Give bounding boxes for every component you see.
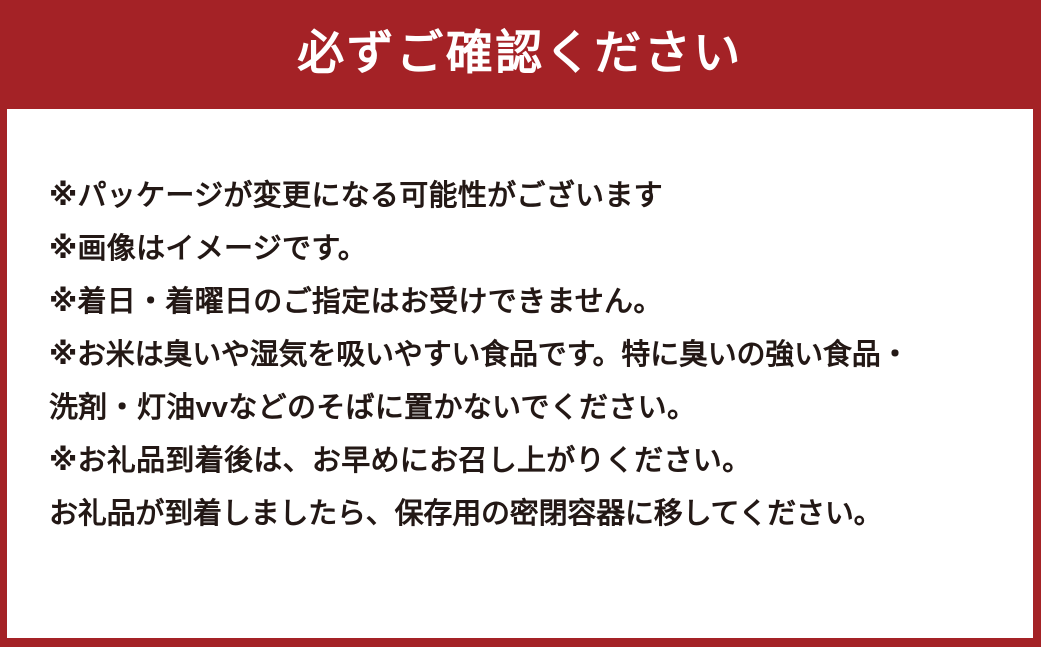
notice-line: ※お礼品到着後は、お早めにお召し上がりください。 (49, 435, 1033, 488)
notice-line: ※画像はイメージです。 (49, 223, 1033, 276)
notice-line: ※お米は臭いや湿気を吸いやすい食品です。特に臭いの強い食品・ (49, 329, 1033, 382)
notice-card: 必ずご確認ください ※パッケージが変更になる可能性がございます ※画像はイメージ… (0, 0, 1041, 647)
page-title: 必ずご確認ください (297, 29, 743, 76)
notice-line: お礼品が到着しましたら、保存用の密閉容器に移してください。 (49, 488, 1033, 541)
notice-line: 洗剤・灯油vvなどのそばに置かないでください。 (49, 382, 1033, 435)
notice-header-banner: 必ずご確認ください (7, 0, 1033, 109)
notice-line: ※パッケージが変更になる可能性がございます (49, 170, 1033, 223)
notice-body: ※パッケージが変更になる可能性がございます ※画像はイメージです。 ※着日・着曜… (7, 109, 1033, 541)
notice-line: ※着日・着曜日のご指定はお受けできません。 (49, 276, 1033, 329)
